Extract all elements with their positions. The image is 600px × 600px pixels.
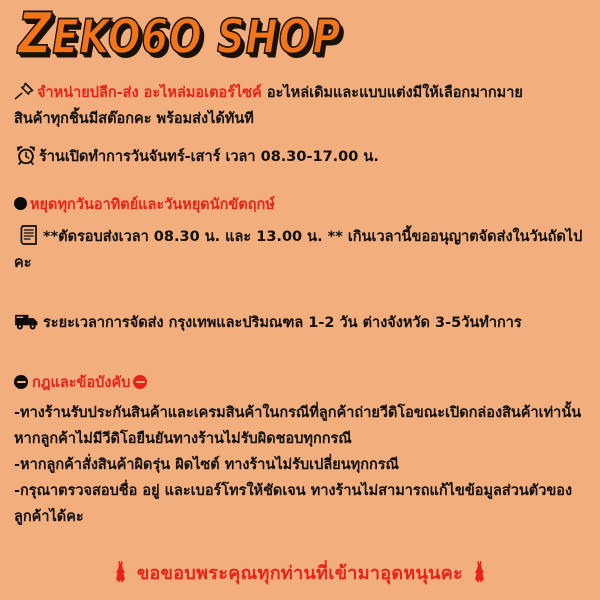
wholesale-line2: สินค้าทุกชิ้นมีสต๊อกคะ พร้อมส่งได้ทันที bbox=[14, 111, 254, 127]
rules-heading: กฎและข้อบังคับ bbox=[10, 370, 590, 396]
receipt-icon bbox=[20, 225, 37, 245]
folded-hands-icon bbox=[112, 561, 129, 583]
wholesale-rest: อะไหล่เดิมและแบบแต่งมีให้เลือกมากมาย bbox=[267, 85, 523, 101]
rule-item: -ทางร้านรับประกันสินค้าและเครมสินค้าในกร… bbox=[14, 400, 590, 426]
folded-hands-icon bbox=[471, 561, 488, 583]
rule-item: -กรุณาตรวจสอบชื่อ อยู่ และเบอร์โทรให้ชัด… bbox=[14, 478, 590, 504]
shop-logo-rest: eko6o shop bbox=[52, 10, 341, 64]
rule-item: หากลูกค้าไม่มีวีดิโอยืนยันทางร้านไม่รับผ… bbox=[14, 426, 590, 452]
no-entry-black-icon bbox=[14, 375, 28, 389]
shop-logo-initial: Z bbox=[18, 1, 52, 67]
opening-hours-text: ร้านเปิดทำการวันจันทร์-เสาร์ เวลา 08.30-… bbox=[39, 149, 379, 165]
delivery-text: ระยะเวลาการจัดส่ง กรุงเทพและปริมณฑล 1-2 … bbox=[43, 315, 522, 331]
delivery-section: ระยะเวลาการจัดส่ง กรุงเทพและปริมณฑล 1-2 … bbox=[10, 310, 590, 336]
rule-item: ลูกค้าได้คะ bbox=[14, 504, 590, 530]
shop-logo-text: Zeko6o shop bbox=[18, 8, 341, 63]
rules-list: -ทางร้านรับประกันสินค้าและเครมสินค้าในกร… bbox=[10, 400, 590, 530]
shop-info-banner: Zeko6o shop จำหน่ายปลีก-ส่ง อะไหล่มอเตอร… bbox=[0, 0, 600, 600]
rules-heading-text: กฎและข้อบังคับ bbox=[32, 375, 130, 391]
no-entry-red-icon bbox=[133, 375, 147, 389]
black-circle-icon bbox=[14, 197, 27, 210]
rule-item: -หากลูกค้าสั่งสินค้าผิดรุ่น ผิดไซต์ ทางร… bbox=[14, 452, 590, 478]
cutoff-line2: คะ bbox=[14, 255, 32, 271]
cutoff-section: **ตัดรอบส่งเวลา 08.30 น. และ 13.00 น. **… bbox=[10, 224, 590, 276]
thank-you-text: ขอขอบพระคุณทุกท่านที่เข้ามาอุดหนุนคะ bbox=[137, 563, 463, 584]
opening-hours-section: ร้านเปิดทำการวันจันทร์-เสาร์ เวลา 08.30-… bbox=[10, 144, 590, 170]
pushpin-icon bbox=[14, 82, 34, 100]
cutoff-line1: **ตัดรอบส่งเวลา 08.30 น. และ 13.00 น. **… bbox=[43, 229, 582, 245]
delivery-truck-icon bbox=[14, 312, 39, 330]
thank-you-footer: ขอขอบพระคุณทุกท่านที่เข้ามาอุดหนุนคะ bbox=[10, 558, 590, 587]
closed-days-section: หยุดทุกวันอาทิตย์และวันหยุดนักขัตฤกษ์ bbox=[10, 192, 590, 218]
wholesale-section: จำหน่ายปลีก-ส่ง อะไหล่มอเตอร์ไซค์ อะไหล่… bbox=[10, 80, 590, 132]
shop-logo: Zeko6o shop bbox=[10, 0, 590, 64]
wholesale-highlight: จำหน่ายปลีก-ส่ง อะไหล่มอเตอร์ไซค์ bbox=[37, 85, 262, 101]
closed-days-text: หยุดทุกวันอาทิตย์และวันหยุดนักขัตฤกษ์ bbox=[30, 197, 275, 213]
alarm-clock-icon bbox=[17, 146, 35, 165]
